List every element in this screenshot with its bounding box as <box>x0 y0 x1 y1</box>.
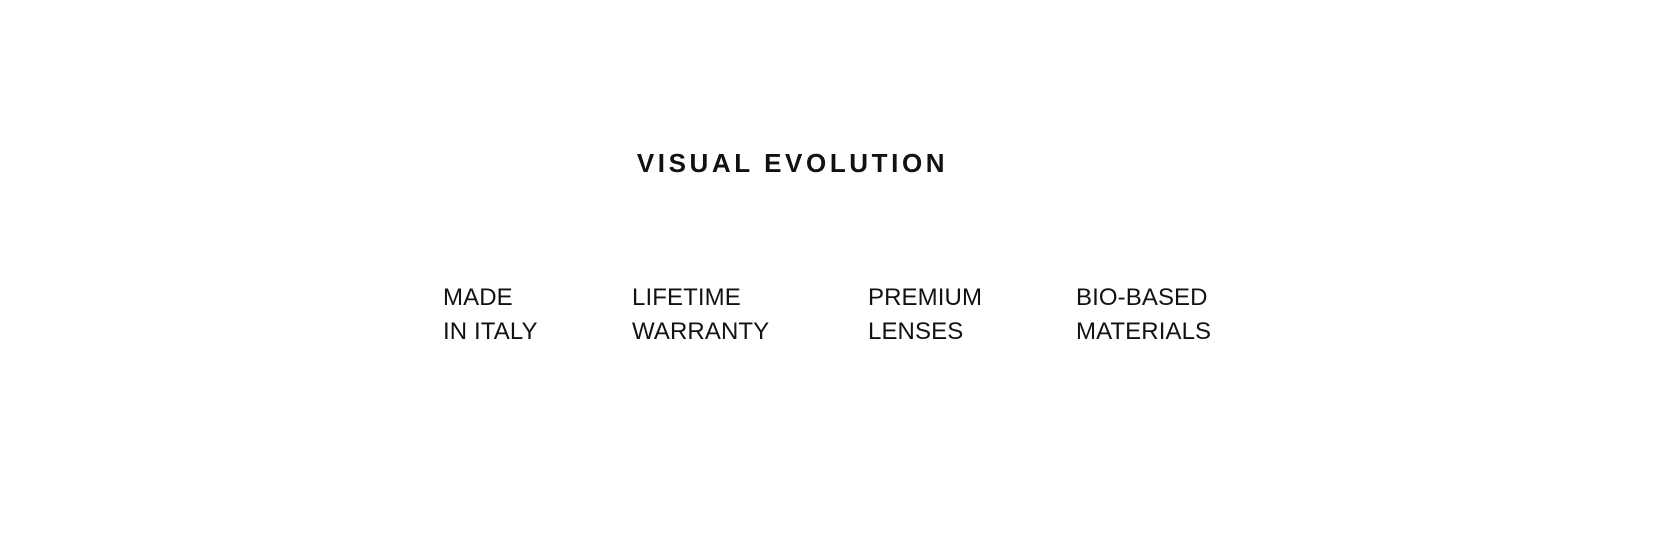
feature-label-line1: BIO-BASED <box>1076 281 1211 315</box>
visual-evolution-section: VISUAL EVOLUTION MADE IN ITALY LIFETIME … <box>0 0 1680 560</box>
feature-label-line2: LENSES <box>868 315 1076 349</box>
feature-label-line2: WARRANTY <box>632 315 868 349</box>
page-title: VISUAL EVOLUTION <box>637 146 948 180</box>
feature-item-bio-based-materials: BIO-BASED MATERIALS <box>1076 281 1211 349</box>
heading-container: VISUAL EVOLUTION <box>0 146 1585 180</box>
feature-label-line1: MADE <box>443 281 632 315</box>
feature-label-line2: MATERIALS <box>1076 315 1211 349</box>
feature-label-line2: IN ITALY <box>443 315 632 349</box>
feature-label-line1: LIFETIME <box>632 281 868 315</box>
feature-label-line1: PREMIUM <box>868 281 1076 315</box>
feature-item-premium-lenses: PREMIUM LENSES <box>868 281 1076 349</box>
feature-list: MADE IN ITALY LIFETIME WARRANTY PREMIUM … <box>443 281 1211 349</box>
feature-item-made-in-italy: MADE IN ITALY <box>443 281 632 349</box>
feature-item-lifetime-warranty: LIFETIME WARRANTY <box>632 281 868 349</box>
